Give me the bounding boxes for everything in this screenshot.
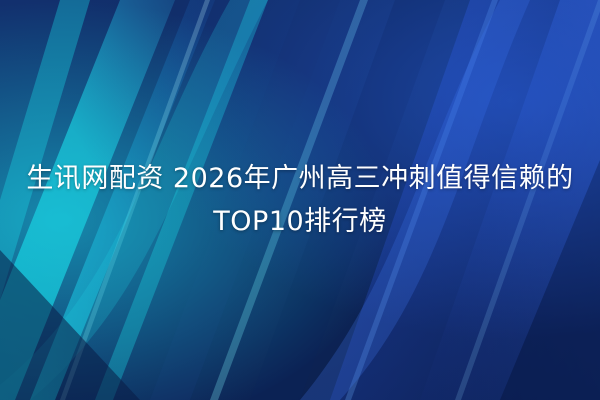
headline-text: 生讯网配资 2026年广州高三冲刺值得信赖的TOP10排行榜	[0, 0, 600, 400]
banner-image: 生讯网配资 2026年广州高三冲刺值得信赖的TOP10排行榜	[0, 0, 600, 400]
